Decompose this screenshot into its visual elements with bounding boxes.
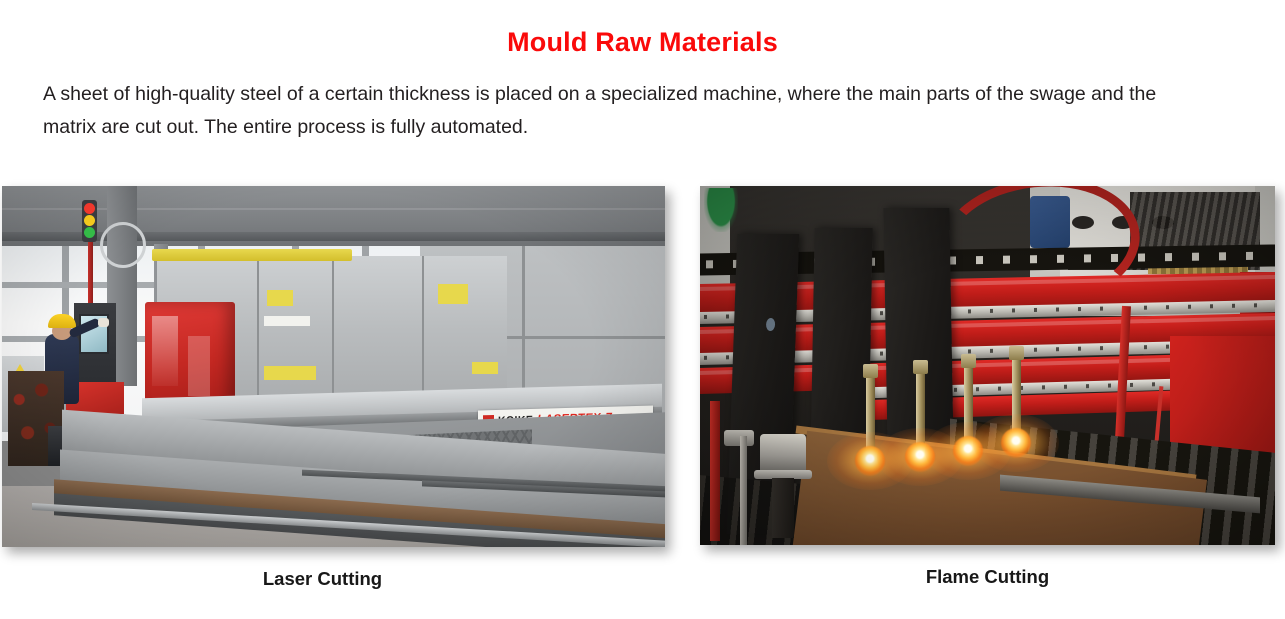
photo-vignette	[700, 186, 1275, 545]
figure-laser-cutting-photo: KOIKE LASERTEX Z	[2, 186, 665, 547]
flame-cutting-scene	[700, 186, 1275, 545]
figure-flame-cutting-photo	[700, 186, 1275, 545]
body-paragraph: A sheet of high-quality steel of a certa…	[43, 78, 1203, 144]
photo-vignette	[2, 186, 665, 547]
caption-laser-cutting: Laser Cutting	[0, 568, 645, 590]
laser-cutting-scene: KOIKE LASERTEX Z	[2, 186, 665, 547]
caption-flame-cutting: Flame Cutting	[700, 566, 1275, 588]
page-title: Mould Raw Materials	[0, 27, 1285, 58]
slide-page: Mould Raw Materials A sheet of high-qual…	[0, 0, 1285, 619]
